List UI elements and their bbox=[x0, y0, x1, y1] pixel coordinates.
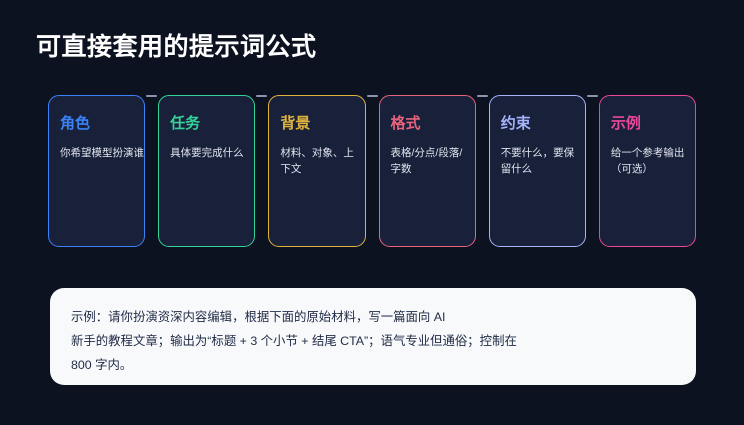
example-prompt-line: 800 字内。 bbox=[71, 353, 672, 377]
formula-card-title: 任务 bbox=[170, 116, 245, 133]
card-slot-3: 背景 材料、对象、上下文 bbox=[268, 95, 365, 247]
formula-card-desc: 不要什么，要保留什么 bbox=[501, 145, 576, 178]
formula-card-desc: 给一个参考输出（可选） bbox=[611, 145, 686, 178]
card-connector-3 bbox=[367, 95, 378, 97]
formula-card-desc: 材料、对象、上下文 bbox=[280, 145, 355, 178]
card-connector-1 bbox=[146, 95, 157, 97]
card-slot-1: 角色 你希望模型扮演谁 bbox=[48, 95, 145, 247]
card-connector-2 bbox=[256, 95, 267, 97]
formula-card-desc: 表格/分点/段落/字数 bbox=[391, 145, 466, 178]
slide-canvas: 可直接套用的提示词公式 角色 你希望模型扮演谁 任务 具体要完成什么 背景 材料… bbox=[0, 0, 744, 425]
formula-card-title: 示例 bbox=[611, 116, 686, 133]
formula-card-title: 背景 bbox=[280, 116, 355, 133]
example-prompt-line: 示例：请你扮演资深内容编辑，根据下面的原始材料，写一篇面向 AI bbox=[71, 305, 672, 329]
formula-cards-row: 角色 你希望模型扮演谁 任务 具体要完成什么 背景 材料、对象、上下文 格式 表… bbox=[48, 95, 696, 247]
card-slot-5: 约束 不要什么，要保留什么 bbox=[489, 95, 586, 247]
formula-card-title: 约束 bbox=[501, 116, 576, 133]
formula-card-format[interactable]: 格式 表格/分点/段落/字数 bbox=[379, 95, 476, 247]
card-connector-5 bbox=[587, 95, 598, 97]
example-prompt-panel: 示例：请你扮演资深内容编辑，根据下面的原始材料，写一篇面向 AI 新手的教程文章… bbox=[50, 288, 696, 385]
formula-card-role[interactable]: 角色 你希望模型扮演谁 bbox=[48, 95, 145, 247]
formula-card-desc: 具体要完成什么 bbox=[170, 145, 245, 161]
formula-card-constraint[interactable]: 约束 不要什么，要保留什么 bbox=[489, 95, 586, 247]
card-slot-4: 格式 表格/分点/段落/字数 bbox=[379, 95, 476, 247]
formula-card-desc: 你希望模型扮演谁 bbox=[60, 145, 135, 161]
formula-card-example[interactable]: 示例 给一个参考输出（可选） bbox=[599, 95, 696, 247]
example-prompt-line: 新手的教程文章；输出为“标题 + 3 个小节 + 结尾 CTA”；语气专业但通俗… bbox=[71, 329, 672, 353]
card-slot-2: 任务 具体要完成什么 bbox=[158, 95, 255, 247]
card-slot-6: 示例 给一个参考输出（可选） bbox=[599, 95, 696, 247]
formula-card-background[interactable]: 背景 材料、对象、上下文 bbox=[268, 95, 365, 247]
formula-card-title: 角色 bbox=[60, 116, 135, 133]
formula-card-title: 格式 bbox=[391, 116, 466, 133]
page-title: 可直接套用的提示词公式 bbox=[36, 27, 317, 63]
card-connector-4 bbox=[477, 95, 488, 97]
formula-card-task[interactable]: 任务 具体要完成什么 bbox=[158, 95, 255, 247]
